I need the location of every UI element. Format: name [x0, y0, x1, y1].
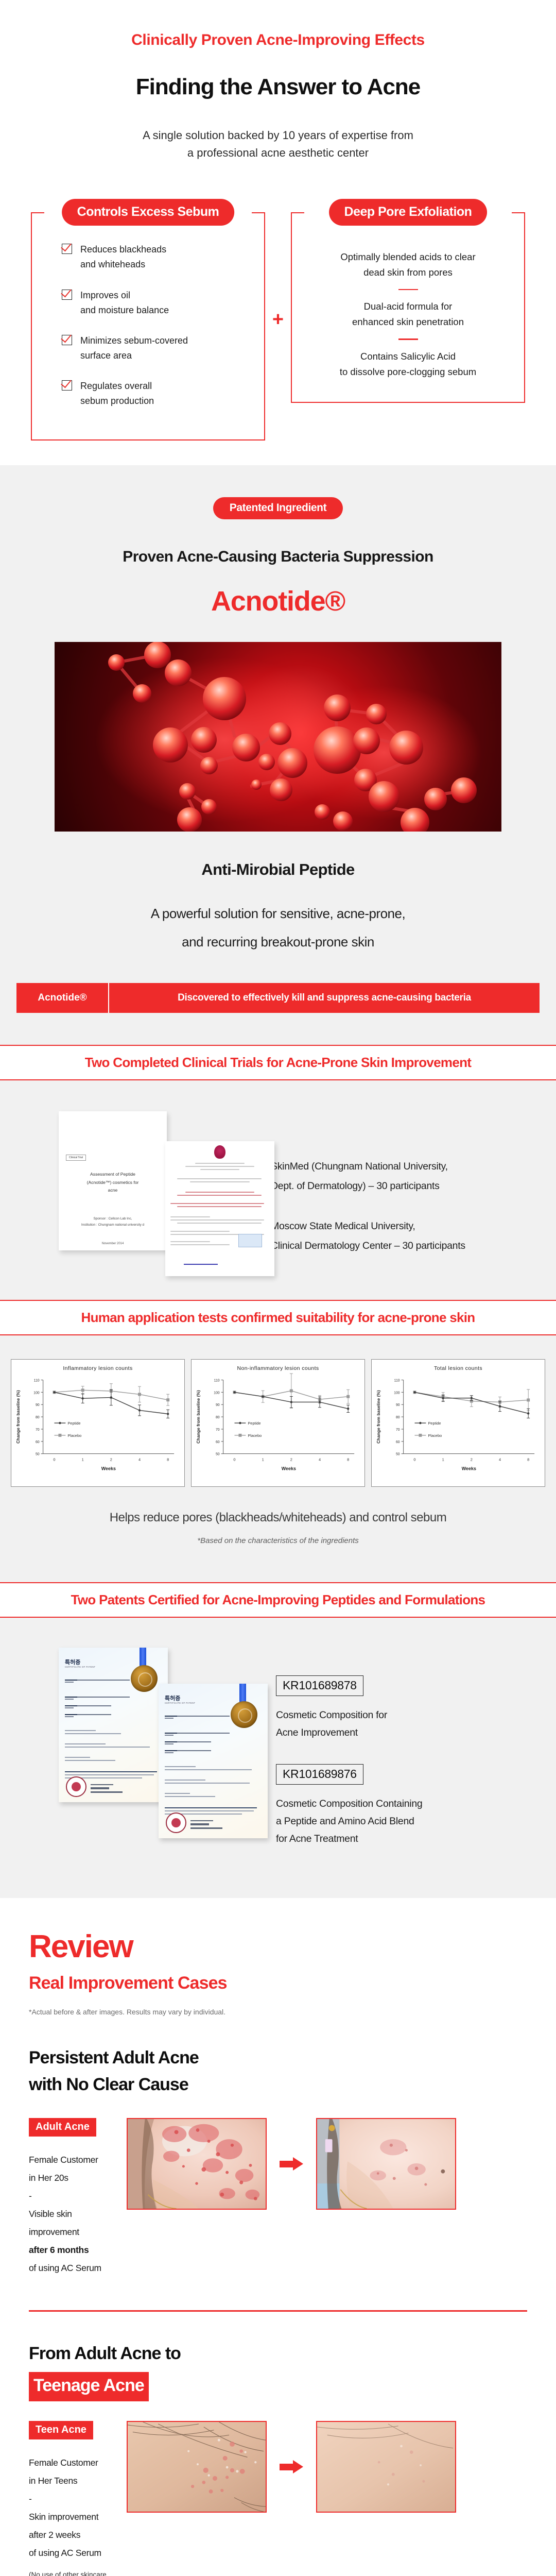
patent-fields — [65, 1680, 162, 1723]
charts-section: Inflammatory lesion counts 5060708090100… — [0, 1335, 556, 1550]
case-desc-line: in Her 20s — [29, 2169, 120, 2187]
checkbox-check-icon — [62, 380, 72, 391]
svg-text:50: 50 — [216, 1452, 220, 1456]
after-photo-adult — [316, 2118, 456, 2210]
case-chip-teen-acne: Teen Acne — [29, 2421, 93, 2439]
svg-text:Change from baseline (%): Change from baseline (%) — [376, 1390, 381, 1444]
case-desc-line: after 2 weeks — [29, 2526, 120, 2544]
svg-text:80: 80 — [36, 1416, 40, 1419]
case-teen-acne: From Adult Acne to Teenage Acne Teen Acn… — [0, 2312, 556, 2576]
before-after-photos — [127, 2118, 527, 2210]
case-info: Adult Acne Female Customer in Her 20s - … — [29, 2118, 127, 2277]
svg-text:Placebo: Placebo — [67, 1433, 81, 1437]
patent-certificate-1: 특허증 CERTIFICATE OF PATENT — [59, 1648, 168, 1802]
patents-heading: Two Patents Certified for Acne-Improving… — [0, 1582, 556, 1618]
svg-text:2: 2 — [110, 1457, 112, 1462]
svg-text:100: 100 — [33, 1391, 40, 1395]
patent-office-seal-icon — [166, 1812, 186, 1833]
list-item: Minimizes sebum-covered surface area — [62, 333, 251, 363]
peptide-description-line1: A powerful solution for sensitive, acne-… — [21, 900, 535, 928]
acnotide-banner-text: Discovered to effectively kill and suppr… — [109, 983, 540, 1013]
trial-institution-1-line2: Dept. of Dermatology) – 30 participants — [271, 1176, 465, 1196]
case-heading-line1: From Adult Acne to — [29, 2341, 527, 2367]
case-description: Female Customer in Her 20s - Visible ski… — [29, 2151, 120, 2277]
feature-box-sebum-body: Reduces blackheads and whiteheads Improv… — [31, 212, 265, 440]
case-info: Teen Acne Female Customer in Her Teens -… — [29, 2421, 127, 2576]
feature-box-exfoliation-body: Optimally blended acids to clear dead sk… — [291, 212, 525, 403]
patent-doc-title-en: CERTIFICATE OF PATENT — [65, 1666, 96, 1668]
case-desc-line-duration: after 6 months — [29, 2241, 120, 2259]
before-photo-adult — [127, 2118, 267, 2210]
svg-text:Change from baseline (%): Change from baseline (%) — [196, 1390, 201, 1444]
case-desc-line: of using AC Serum — [29, 2544, 120, 2562]
review-subtitle: Real Improvement Cases — [29, 1973, 527, 1993]
human-tests-heading: Human application tests confirmed suitab… — [0, 1300, 556, 1335]
svg-text:70: 70 — [216, 1428, 220, 1432]
svg-text:1: 1 — [82, 1457, 84, 1462]
trial-document-sponsor: Sponsor : Cellcon Lab Inc, — [59, 1216, 167, 1222]
svg-text:Weeks: Weeks — [282, 1466, 296, 1471]
trial-document-date: November 2014 — [59, 1242, 167, 1245]
case-heading: From Adult Acne to Teenage Acne — [29, 2341, 527, 2401]
after-photo-teen — [316, 2421, 456, 2513]
spacer — [0, 1550, 556, 1582]
svg-text:60: 60 — [36, 1440, 40, 1444]
patent-certificates: 특허증 CERTIFICATE OF PATENT — [29, 1643, 276, 1814]
clinical-trials-heading-text: Two Completed Clinical Trials for Acne-P… — [85, 1055, 471, 1070]
svg-text:4: 4 — [138, 1457, 141, 1462]
feature-box-sebum-title: Controls Excess Sebum — [62, 199, 235, 226]
svg-text:Placebo: Placebo — [248, 1433, 262, 1437]
status-badge: Patented Ingredient — [213, 497, 343, 519]
exfoliation-benefit-3: Contains Salicylic Acid to dissolve pore… — [305, 349, 511, 380]
review-title: Review — [29, 1931, 527, 1963]
checkbox-check-icon — [62, 335, 72, 345]
case-desc-line: in Her Teens — [29, 2472, 120, 2490]
svg-text:Change from baseline (%): Change from baseline (%) — [15, 1390, 21, 1444]
clinical-trial-documents: Clinical Trial Assessment of Peptide (Ac… — [29, 1107, 271, 1277]
acnotide-banner-label: Acnotide® — [16, 983, 109, 1013]
chart-non-inflammatory-lesion-counts: Non-inflammatory lesion counts 506070809… — [191, 1359, 365, 1487]
chart-plot: 506070809010011001248WeeksChange from ba… — [372, 1371, 545, 1480]
review-disclaimer: *Actual before & after images. Results m… — [29, 2008, 527, 2016]
patented-ingredient-section: Patented Ingredient Proven Acne-Causing … — [0, 465, 556, 956]
svg-text:90: 90 — [396, 1403, 400, 1407]
svg-text:8: 8 — [347, 1457, 349, 1462]
svg-text:70: 70 — [396, 1428, 400, 1432]
peptide-description-line2: and recurring breakout-prone skin — [21, 928, 535, 956]
svg-text:Peptide: Peptide — [67, 1421, 80, 1426]
chart-title: Non-inflammatory lesion counts — [192, 1360, 364, 1371]
peptide-heading: Anti-Mirobial Peptide — [21, 860, 535, 879]
hero-subtitle-line2: a professional acne aesthetic center — [21, 144, 535, 162]
case-heading-line2: with No Clear Cause — [29, 2072, 527, 2098]
arrow-right-icon — [280, 2157, 303, 2171]
patent-office-seal-icon — [66, 1776, 86, 1797]
patent-number-2: KR101689876 — [276, 1764, 363, 1785]
list-item-label: Reduces blackheads and whiteheads — [80, 242, 166, 272]
svg-text:90: 90 — [216, 1403, 220, 1407]
molecule-image-wrap — [55, 642, 501, 832]
case-heading: Persistent Adult Acne with No Clear Caus… — [29, 2045, 527, 2098]
checkbox-check-icon — [62, 290, 72, 300]
svg-text:60: 60 — [396, 1440, 400, 1444]
brand-name: Acnotide® — [21, 585, 535, 617]
checkbox-check-icon — [62, 244, 72, 254]
patent-doc-title-kr: 특허증 — [165, 1694, 180, 1702]
human-tests-heading-text: Human application tests confirmed suitab… — [81, 1310, 475, 1325]
list-item: Reduces blackheads and whiteheads — [62, 242, 251, 272]
landing-page: Clinically Proven Acne-Improving Effects… — [0, 0, 556, 2576]
svg-text:100: 100 — [214, 1391, 220, 1395]
arrow-right-icon — [280, 2460, 303, 2473]
case-desc-line: Visible skin — [29, 2205, 120, 2223]
exfoliation-benefit-1: Optimally blended acids to clear dead sk… — [305, 249, 511, 280]
svg-text:90: 90 — [36, 1403, 40, 1407]
list-item: Improves oil and moisture balance — [62, 288, 251, 318]
case-adult-acne: Persistent Adult Acne with No Clear Caus… — [0, 2016, 556, 2277]
svg-text:70: 70 — [36, 1428, 40, 1432]
case-body: Adult Acne Female Customer in Her 20s - … — [29, 2118, 527, 2277]
svg-text:4: 4 — [319, 1457, 321, 1462]
list-item: Regulates overall sebum production — [62, 379, 251, 409]
case-fine-print: (No use of other skincare products durin… — [29, 2569, 120, 2576]
patent-title-2: Cosmetic Composition Containing a Peptid… — [276, 1795, 422, 1848]
feature-box-exfoliation: Deep Pore Exfoliation Optimally blended … — [291, 199, 525, 440]
approval-stamp-icon — [238, 1234, 262, 1247]
chart-inflammatory-lesion-counts: Inflammatory lesion counts 5060708090100… — [11, 1359, 185, 1487]
patents-heading-text: Two Patents Certified for Acne-Improving… — [71, 1592, 485, 1607]
patent-number-1: KR101689878 — [276, 1675, 363, 1696]
svg-text:Peptide: Peptide — [428, 1421, 441, 1426]
chart-total-lesion-counts: Total lesion counts 50607080901001100124… — [371, 1359, 545, 1487]
svg-text:50: 50 — [396, 1452, 400, 1456]
svg-text:80: 80 — [396, 1416, 400, 1419]
svg-text:80: 80 — [216, 1416, 220, 1419]
svg-text:110: 110 — [34, 1379, 40, 1382]
svg-text:Placebo: Placebo — [428, 1433, 442, 1437]
case-desc-line: Skin improvement — [29, 2508, 120, 2526]
clinical-trials-heading: Two Completed Clinical Trials for Acne-P… — [0, 1045, 556, 1080]
ingredient-heading: Proven Acne-Causing Bacteria Suppression — [21, 548, 535, 566]
patent-doc-title-kr: 특허증 — [65, 1658, 80, 1666]
patent-doc-title-en: CERTIFICATE OF PATENT — [165, 1702, 196, 1704]
hero-eyebrow: Clinically Proven Acne-Improving Effects — [21, 31, 535, 49]
svg-text:4: 4 — [499, 1457, 501, 1462]
svg-text:0: 0 — [233, 1457, 235, 1462]
case-chip-adult-acne: Adult Acne — [29, 2118, 96, 2137]
case-desc-line: - — [29, 2187, 120, 2205]
trial-document-title: Assessment of Peptide (Acnotide™) cosmet… — [59, 1171, 167, 1195]
svg-text:8: 8 — [527, 1457, 529, 1462]
patent-signature-block — [190, 1820, 222, 1831]
clinical-trials-section: Clinical Trial Assessment of Peptide (Ac… — [0, 1080, 556, 1300]
chart-plot: 506070809010011001248WeeksChange from ba… — [11, 1371, 184, 1480]
svg-text:2: 2 — [290, 1457, 292, 1462]
patent-descriptions: KR101689878 Cosmetic Composition for Acn… — [276, 1643, 422, 1848]
chart-title: Inflammatory lesion counts — [11, 1360, 184, 1371]
trial-document-institution: Institution : Chungnam national universi… — [59, 1222, 167, 1228]
svg-text:60: 60 — [216, 1440, 220, 1444]
spacer — [0, 1013, 556, 1045]
charts-note: *Based on the characteristics of the ing… — [10, 1536, 546, 1545]
university-seal-icon — [214, 1145, 225, 1159]
trial-document-tag: Clinical Trial — [66, 1155, 86, 1161]
case-description: Female Customer in Her Teens - Skin impr… — [29, 2454, 120, 2562]
chart-title: Total lesion counts — [372, 1360, 545, 1371]
patent-signature-block — [91, 1784, 123, 1795]
before-after-photos — [127, 2421, 527, 2513]
list-item-label: Regulates overall sebum production — [80, 379, 154, 409]
list-item-label: Improves oil and moisture balance — [80, 288, 169, 318]
case-heading-line1: Persistent Adult Acne — [29, 2045, 527, 2072]
page-title: Finding the Answer to Acne — [21, 74, 535, 100]
sebum-benefit-list: Reduces blackheads and whiteheads Improv… — [45, 242, 251, 409]
plus-icon: + — [265, 309, 291, 331]
case-body: Teen Acne Female Customer in Her Teens -… — [29, 2421, 527, 2576]
patent-certificate-2: 특허증 CERTIFICATE OF PATENT — [159, 1684, 268, 1838]
trial-institution-2-line2: Clinical Dermatology Center – 30 partici… — [271, 1236, 465, 1256]
feature-box-exfoliation-title: Deep Pore Exfoliation — [329, 199, 488, 226]
spacer — [0, 1870, 556, 1898]
svg-text:110: 110 — [394, 1379, 400, 1382]
peptide-description: A powerful solution for sensitive, acne-… — [21, 900, 535, 956]
case-desc-line: Female Customer — [29, 2151, 120, 2169]
case-desc-line: of using AC Serum — [29, 2259, 120, 2277]
svg-text:2: 2 — [471, 1457, 473, 1462]
patent-body-lines — [65, 1730, 162, 1781]
case-desc-line: improvement — [29, 2223, 120, 2241]
svg-text:1: 1 — [262, 1457, 264, 1462]
case-desc-line: Female Customer — [29, 2454, 120, 2472]
molecule-image — [55, 642, 501, 832]
svg-text:0: 0 — [413, 1457, 415, 1462]
hero-section: Clinically Proven Acne-Improving Effects… — [0, 0, 556, 162]
svg-text:8: 8 — [167, 1457, 169, 1462]
trial-institution-2-line1: Moscow State Medical University, — [271, 1216, 465, 1236]
svg-text:50: 50 — [36, 1452, 40, 1456]
exfoliation-benefit-2: Dual-acid formula for enhanced skin pene… — [305, 299, 511, 330]
hero-subtitle-line1: A single solution backed by 10 years of … — [21, 127, 535, 144]
charts-row: Inflammatory lesion counts 5060708090100… — [10, 1359, 546, 1487]
feature-box-sebum: Controls Excess Sebum Reduces blackheads… — [31, 199, 265, 440]
divider — [398, 289, 418, 290]
patent-title-1: Cosmetic Composition for Acne Improvemen… — [276, 1706, 422, 1741]
trial-institution-1-line1: SkinMed (Chungnam National University, — [271, 1157, 465, 1176]
patents-section: 특허증 CERTIFICATE OF PATENT — [0, 1618, 556, 1871]
list-item-label: Minimizes sebum-covered surface area — [80, 333, 188, 363]
trial-document-korean: Clinical Trial Assessment of Peptide (Ac… — [59, 1111, 167, 1250]
case-desc-line: - — [29, 2490, 120, 2508]
patent-body-lines — [165, 1766, 262, 1817]
svg-text:Weeks: Weeks — [101, 1466, 116, 1471]
acnotide-banner: Acnotide® Discovered to effectively kill… — [16, 983, 540, 1013]
clinical-trial-descriptions: SkinMed (Chungnam National University, D… — [271, 1107, 465, 1256]
divider — [398, 338, 418, 340]
arrow-cell — [267, 2157, 316, 2171]
arrow-cell — [267, 2460, 316, 2473]
svg-text:Weeks: Weeks — [462, 1466, 476, 1471]
patent-fields — [165, 1716, 262, 1759]
charts-caption: Helps reduce pores (blackheads/whitehead… — [10, 1511, 546, 1525]
chart-plot: 506070809010011001248WeeksChange from ba… — [192, 1371, 364, 1480]
ingredient-and-evidence-block: Patented Ingredient Proven Acne-Causing … — [0, 465, 556, 1898]
svg-text:0: 0 — [53, 1457, 55, 1462]
svg-text:100: 100 — [394, 1391, 400, 1395]
feature-boxes-section: Controls Excess Sebum Reduces blackheads… — [0, 162, 556, 465]
signature-icon — [184, 1264, 218, 1264]
svg-text:Peptide: Peptide — [248, 1421, 260, 1426]
svg-text:110: 110 — [214, 1379, 220, 1382]
trial-document-russian — [165, 1141, 274, 1276]
case-heading-line2-highlight: Teenage Acne — [29, 2372, 149, 2401]
trial-document-footer: Sponsor : Cellcon Lab Inc, Institution :… — [59, 1216, 167, 1228]
acnotide-banner-wrap: Acnotide® Discovered to effectively kill… — [0, 956, 556, 1013]
review-section: Review Real Improvement Cases *Actual be… — [0, 1898, 556, 2016]
before-photo-teen — [127, 2421, 267, 2513]
svg-text:1: 1 — [442, 1457, 444, 1462]
hero-subtitle: A single solution backed by 10 years of … — [21, 127, 535, 162]
